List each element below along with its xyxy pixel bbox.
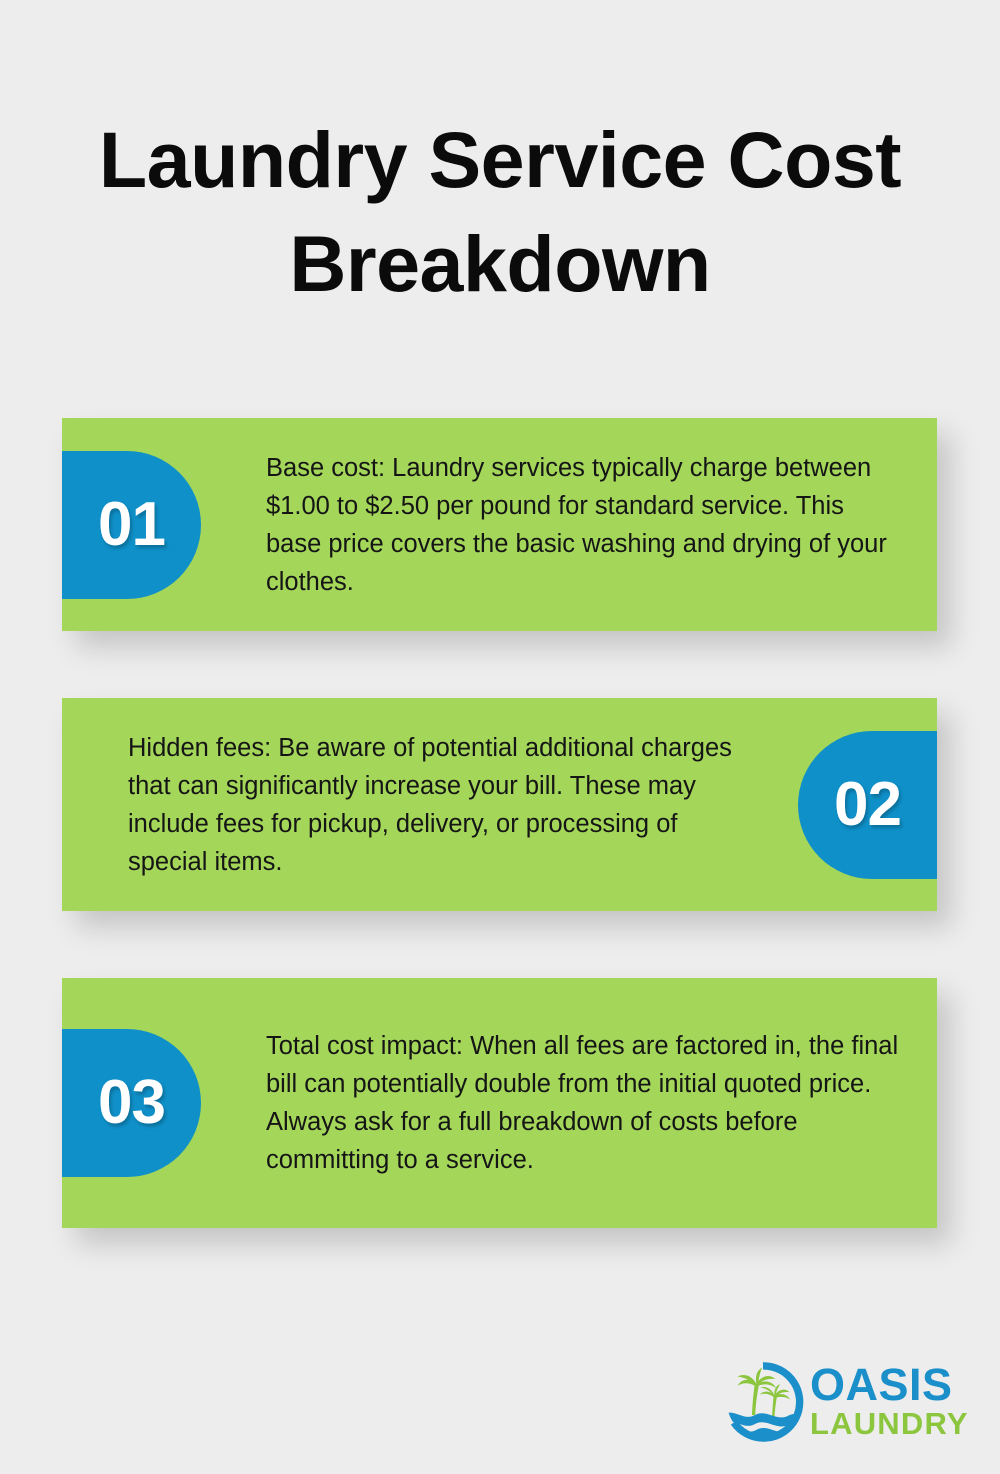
brand-name-primary: OASIS <box>810 1364 969 1406</box>
info-card-text: Total cost impact: When all fees are fac… <box>201 1027 937 1179</box>
info-card: 03 Total cost impact: When all fees are … <box>62 978 937 1228</box>
brand-logo-wordmark: OASIS LAUNDRY <box>810 1364 969 1440</box>
brand-name-secondary: LAUNDRY <box>810 1408 969 1440</box>
infographic-poster: Laundry Service Cost Breakdown 01 Base c… <box>0 0 1000 1474</box>
info-card-text: Base cost: Laundry services typically ch… <box>201 449 937 601</box>
step-number-badge: 02 <box>798 731 937 879</box>
step-number-badge: 03 <box>62 1029 201 1177</box>
brand-logo: OASIS LAUNDRY <box>722 1352 944 1452</box>
step-number-badge: 01 <box>62 451 201 599</box>
step-number-label: 03 <box>98 1072 165 1134</box>
page-title: Laundry Service Cost Breakdown <box>60 108 940 316</box>
info-card-text: Hidden fees: Be aware of potential addit… <box>128 729 798 881</box>
oasis-palm-wave-emblem-icon <box>722 1361 804 1443</box>
info-card: 01 Base cost: Laundry services typically… <box>62 418 937 631</box>
info-card: 02 Hidden fees: Be aware of potential ad… <box>62 698 937 911</box>
step-number-label: 01 <box>98 494 165 556</box>
step-number-label: 02 <box>834 774 901 836</box>
page-title-text: Laundry Service Cost Breakdown <box>60 108 940 316</box>
